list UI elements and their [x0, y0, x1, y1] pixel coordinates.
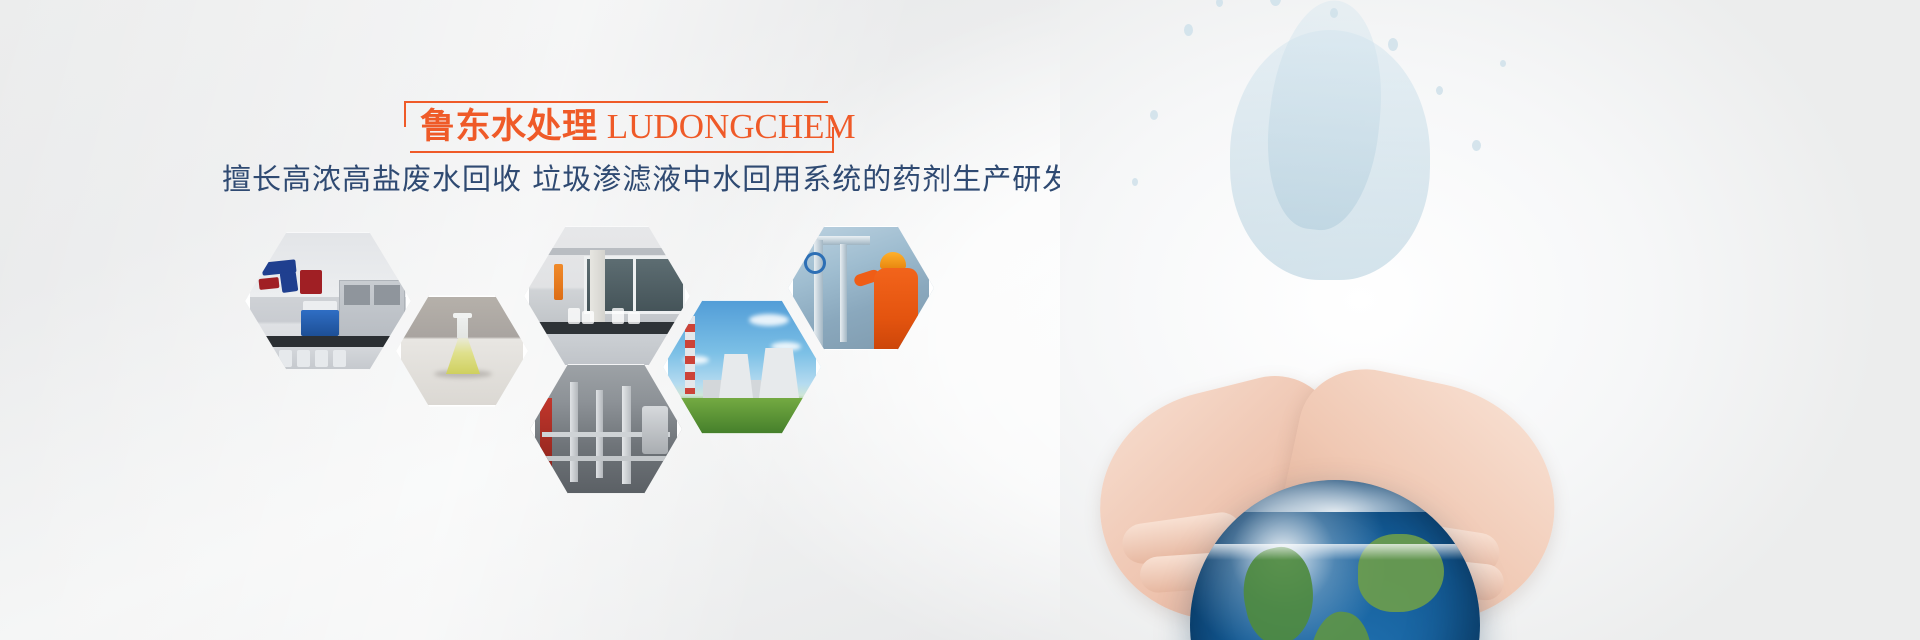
brand-title-cn: 鲁东水处理 — [420, 107, 598, 146]
water-globe — [1190, 480, 1480, 640]
brand-title-en: LUDONGCHEM — [607, 107, 856, 146]
hands-holding-water-globe-photo — [1060, 0, 1920, 640]
hex-tile-industrial-piping — [530, 360, 682, 498]
water-splash — [1120, 0, 1540, 330]
bracket-top-left-icon — [404, 101, 419, 127]
hex-tile-field-engineer — [788, 222, 934, 354]
hands — [1070, 330, 1610, 640]
hex-tile-flask-sample — [396, 292, 528, 410]
brand-title: 鲁东水处理 LUDONGCHEM — [420, 103, 856, 151]
hex-tile-lab-glassware — [524, 222, 690, 370]
hex-tile-laboratory-room — [245, 228, 411, 374]
banner-hero: 鲁东水处理 LUDONGCHEM 擅长高浓高盐废水回收 垃圾渗滤液中水回用系统的… — [0, 0, 1920, 640]
hex-tile-power-plant — [663, 296, 821, 438]
brand-headline: 鲁东水处理 LUDONGCHEM — [404, 101, 834, 153]
banner-subtitle: 擅长高浓高盐废水回收 垃圾渗滤液中水回用系统的药剂生产研发 — [222, 160, 1072, 198]
